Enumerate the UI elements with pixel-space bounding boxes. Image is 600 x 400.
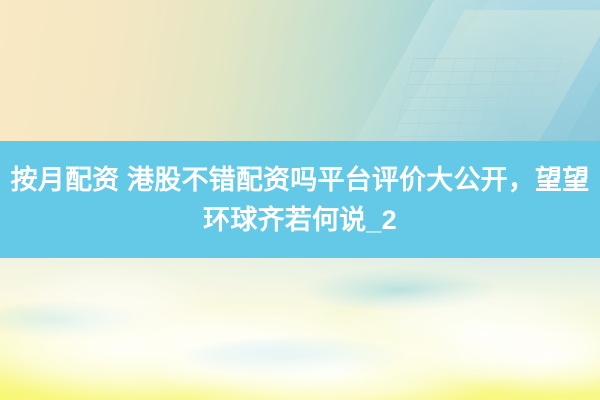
banner-title: 按月配资 港股不错配资吗平台评价大公开，望望环球齐若何说_2 xyxy=(0,160,600,240)
banner-canvas: 按月配资 港股不错配资吗平台评价大公开，望望环球齐若何说_2 xyxy=(0,0,600,400)
title-band: 按月配资 港股不错配资吗平台评价大公开，望望环球齐若何说_2 xyxy=(0,141,600,258)
